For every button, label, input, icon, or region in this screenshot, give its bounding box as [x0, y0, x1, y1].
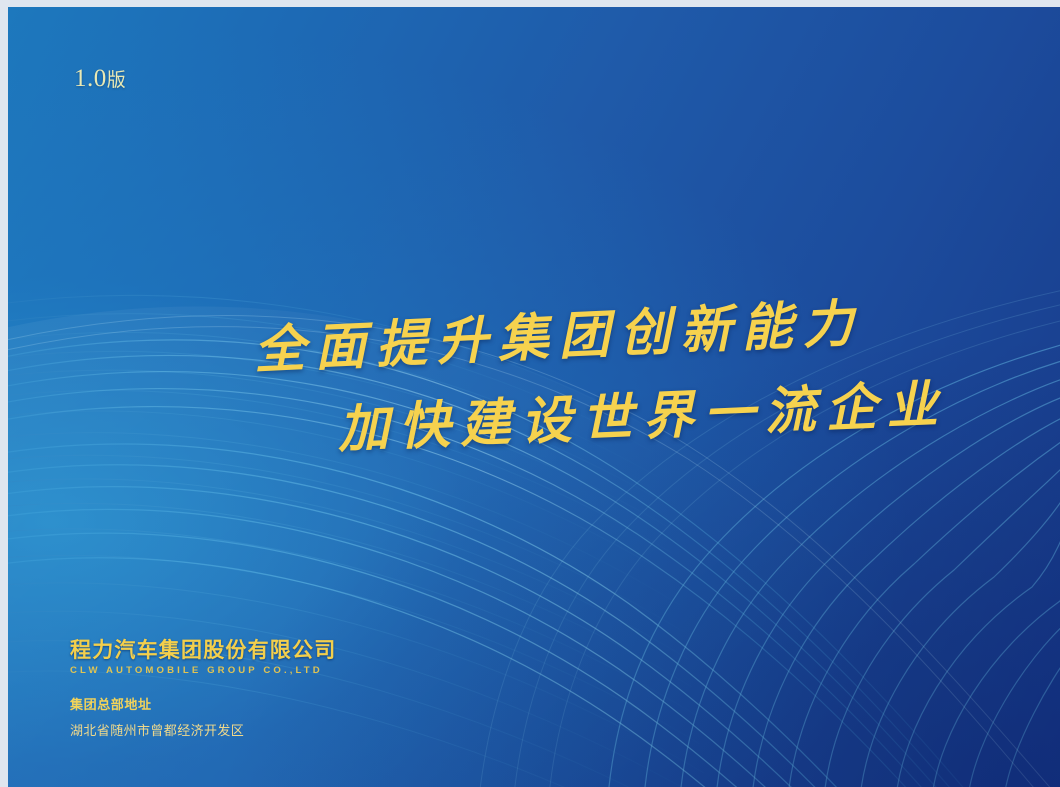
- slide-canvas: 1.0版 全面提升集团创新能力 加快建设世界一流企业 程力汽车集团股份有限公司 …: [8, 7, 1060, 787]
- slide-root: 1.0版 全面提升集团创新能力 加快建设世界一流企业 程力汽车集团股份有限公司 …: [0, 0, 1060, 787]
- company-logo-english: CLW AUTOMOBILE GROUP CO.,LTD: [70, 665, 490, 676]
- headline-block: 全面提升集团创新能力 加快建设世界一流企业: [8, 327, 1060, 457]
- address-block: 集团总部地址 湖北省随州市曾都经济开发区: [70, 694, 490, 739]
- headline-line-2: 加快建设世界一流企业: [337, 376, 1060, 457]
- footer-block: 程力汽车集团股份有限公司 CLW AUTOMOBILE GROUP CO.,LT…: [70, 640, 490, 739]
- version-number: 1.0: [74, 65, 107, 92]
- address-value: 湖北省随州市曾都经济开发区: [70, 720, 490, 739]
- version-suffix: 版: [107, 70, 127, 91]
- headline-line-1: 全面提升集团创新能力: [253, 290, 1060, 378]
- version-tag: 1.0版: [74, 65, 126, 93]
- company-logo-chinese: 程力汽车集团股份有限公司: [70, 640, 490, 662]
- address-label: 集团总部地址: [70, 694, 490, 713]
